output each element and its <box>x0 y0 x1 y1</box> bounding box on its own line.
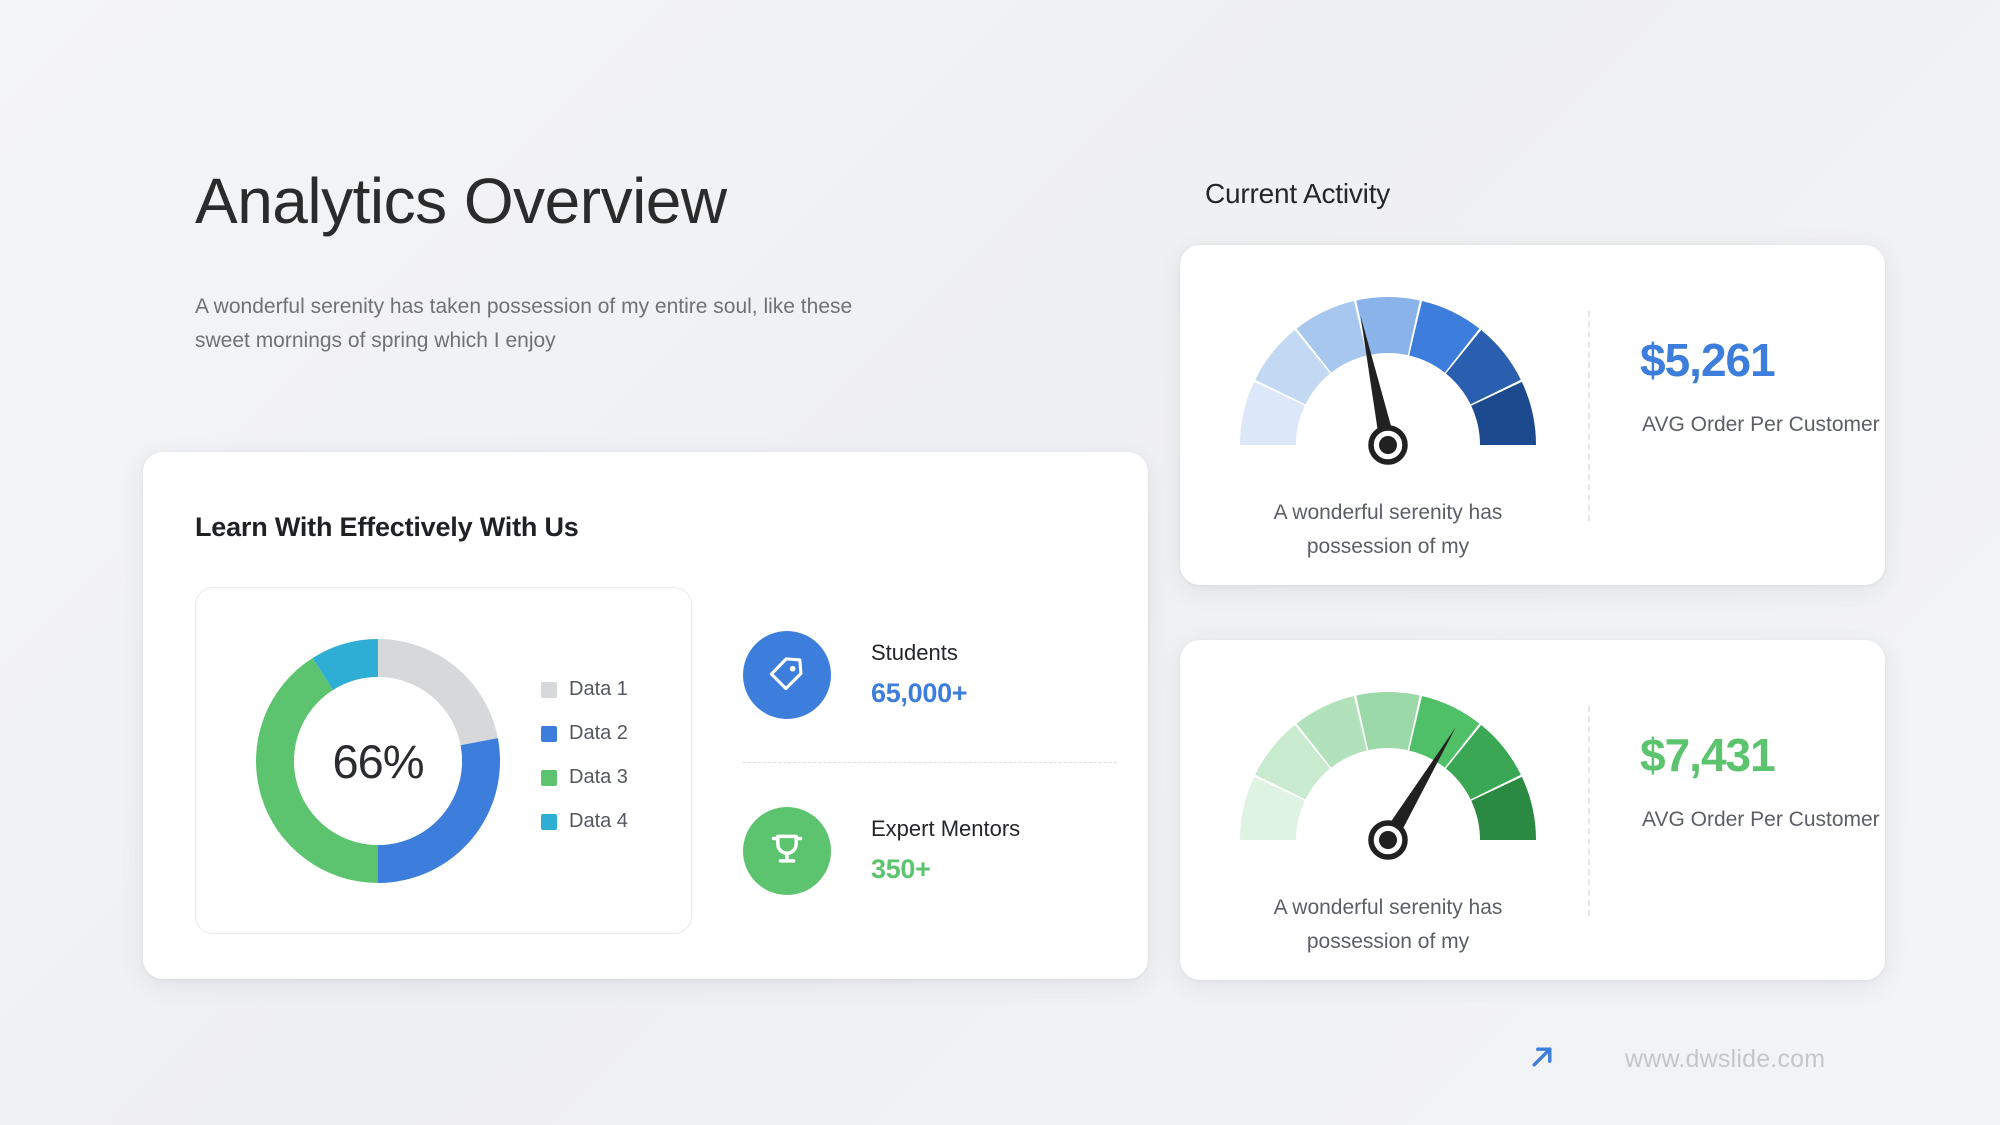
activity-card-avg-order-green: A wonderful serenity has possession of m… <box>1180 640 1885 980</box>
page-subtitle: A wonderful serenity has taken possessio… <box>195 290 875 358</box>
legend-label-data-3: Data 3 <box>569 766 628 789</box>
stat-value: 350+ <box>871 854 1020 885</box>
legend-swatch-data-1 <box>541 682 557 698</box>
card-divider <box>1588 311 1590 521</box>
legend-item[interactable]: Data 4 <box>541 810 628 833</box>
stat-item-students[interactable]: Students 65,000+ <box>743 587 1103 762</box>
learn-card-title: Learn With Effectively With Us <box>195 512 579 543</box>
gauge-value-label: AVG Order Per Customer <box>1642 413 1880 437</box>
stat-text-students: Students 65,000+ <box>871 640 967 709</box>
legend-item[interactable]: Data 1 <box>541 678 628 701</box>
legend-label-data-1: Data 1 <box>569 678 628 701</box>
stat-label: Expert Mentors <box>871 816 1020 842</box>
footer-url: www.dwslide.com <box>1625 1045 1825 1074</box>
stat-text-expert-mentors: Expert Mentors 350+ <box>871 816 1020 885</box>
legend-swatch-data-2 <box>541 726 557 742</box>
current-activity-title: Current Activity <box>1205 178 1390 210</box>
legend-swatch-data-3 <box>541 770 557 786</box>
gauge-hub <box>1379 436 1397 454</box>
gauge-hub <box>1379 831 1397 849</box>
gauge-caption: A wonderful serenity has possession of m… <box>1188 496 1588 564</box>
donut-chart: 66% <box>228 606 528 916</box>
gauge-column: A wonderful serenity has possession of m… <box>1188 662 1588 959</box>
legend-swatch-data-4 <box>541 814 557 830</box>
gauge-caption: A wonderful serenity has possession of m… <box>1188 891 1588 959</box>
legend-label-data-2: Data 2 <box>569 722 628 745</box>
stat-value: 65,000+ <box>871 678 967 709</box>
slide-canvas: Analytics Overview A wonderful serenity … <box>0 0 2000 1125</box>
donut-center-label: 66% <box>228 606 528 916</box>
gauge-value-label: AVG Order Per Customer <box>1642 808 1880 832</box>
gauge-chart-green <box>1188 662 1588 872</box>
donut-chart-panel: 66% Data 1 Data 2 Data 3 Data 4 <box>195 587 692 934</box>
footer: www.dwslide.com <box>1525 1040 1825 1079</box>
gauge-value: $5,261 <box>1640 333 1775 387</box>
stat-label: Students <box>871 640 967 666</box>
gauge-value: $7,431 <box>1640 728 1775 782</box>
learn-card: Learn With Effectively With Us 66% Data … <box>143 452 1148 979</box>
legend-label-data-4: Data 4 <box>569 810 628 833</box>
card-divider <box>1588 706 1590 916</box>
trophy-icon <box>743 807 831 895</box>
gauge-segment-4 <box>1356 692 1420 750</box>
gauge-column: A wonderful serenity has possession of m… <box>1188 267 1588 564</box>
legend-item[interactable]: Data 3 <box>541 766 628 789</box>
gauge-chart-blue <box>1188 267 1588 477</box>
stats-list: Students 65,000+ Expert Mentors 350+ <box>743 587 1103 938</box>
legend-item[interactable]: Data 2 <box>541 722 628 745</box>
stat-item-expert-mentors[interactable]: Expert Mentors 350+ <box>743 763 1103 938</box>
tag-icon <box>743 631 831 719</box>
page-title: Analytics Overview <box>195 168 727 235</box>
arrow-up-right-icon <box>1525 1040 1559 1079</box>
activity-card-avg-order-blue: A wonderful serenity has possession of m… <box>1180 245 1885 585</box>
donut-legend: Data 1 Data 2 Data 3 Data 4 <box>541 678 628 854</box>
